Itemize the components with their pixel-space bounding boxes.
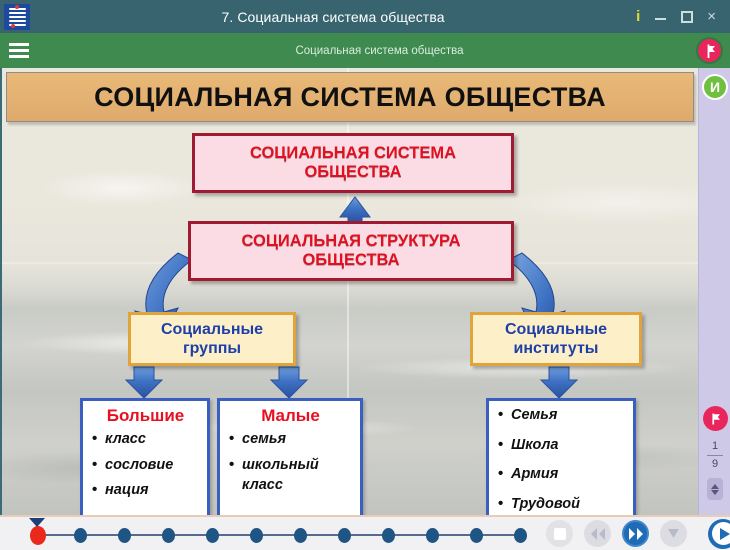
title-bar: 7. Социальная система общества i × [0, 0, 730, 33]
slide-canvas: СОЦИАЛЬНАЯ СИСТЕМА ОБЩЕСТВА [2, 68, 698, 515]
timeline-dot[interactable] [206, 528, 219, 543]
list-item: нация [92, 481, 199, 500]
timeline-dot[interactable] [30, 526, 46, 545]
list-item: Армия [498, 465, 625, 484]
flag-icon[interactable] [703, 406, 728, 431]
window-title: 7. Социальная система общества [30, 9, 636, 25]
lesson-title: Социальная система общества [29, 45, 730, 57]
box-social-structure-label: СОЦИАЛЬНАЯ СТРУКТУРА ОБЩЕСТВА [241, 232, 460, 271]
list-item: Школа [498, 436, 625, 455]
bookmark-flag-icon[interactable] [696, 37, 723, 64]
box-social-system-label: СОЦИАЛЬНАЯ СИСТЕМА ОБЩЕСТВА [250, 144, 456, 183]
timeline-dot[interactable] [426, 528, 439, 543]
list-institutions: Семья Школа Армия Трудовой [486, 398, 636, 515]
timeline-dot[interactable] [294, 528, 307, 543]
slide-banner: СОЦИАЛЬНАЯ СИСТЕМА ОБЩЕСТВА [6, 72, 694, 122]
timeline-dot[interactable] [514, 528, 527, 543]
close-icon[interactable]: × [707, 9, 716, 24]
right-rail: И 1 9 [698, 68, 730, 518]
notes-badge[interactable]: И [702, 74, 728, 100]
list-item: школьный [229, 456, 352, 475]
box-social-structure: СОЦИАЛЬНАЯ СТРУКТУРА ОБЩЕСТВА [188, 221, 514, 281]
book-spiral-icon [4, 4, 30, 30]
list-big-groups-title: Большие [92, 406, 199, 426]
list-small-groups-title: Малые [229, 406, 352, 426]
arrow-up-structure-to-system [340, 197, 370, 222]
list-item: сословие [92, 456, 199, 475]
maximize-icon[interactable] [681, 11, 693, 23]
list-small-groups-items: семья школьный класс [229, 430, 352, 495]
arrow-groups-to-big [126, 367, 162, 398]
forward-button[interactable] [622, 520, 649, 547]
page-indicator: 1 9 [699, 440, 730, 470]
list-small-groups: Малые семья школьный класс [217, 398, 363, 515]
timeline-dot[interactable] [338, 528, 351, 543]
box-social-system: СОЦИАЛЬНАЯ СИСТЕМА ОБЩЕСТВА [192, 133, 514, 193]
box-social-institutions-label: Социальные институты [505, 320, 607, 358]
page-total: 9 [699, 458, 730, 470]
stop-button[interactable] [546, 520, 573, 547]
list-item: Семья [498, 406, 625, 425]
page-current: 1 [699, 440, 730, 453]
timeline-dot[interactable] [250, 528, 263, 543]
application-window: 7. Социальная система общества i × Социа… [0, 0, 730, 550]
playback-toolbar [0, 515, 730, 550]
timeline-dot[interactable] [74, 528, 87, 543]
list-item: класс [92, 430, 199, 449]
list-item: семья [229, 430, 352, 449]
minimize-icon[interactable] [654, 10, 667, 23]
list-big-groups-items: класс сословие нация [92, 430, 199, 500]
window-controls: i × [636, 9, 716, 24]
slide-banner-text: СОЦИАЛЬНАЯ СИСТЕМА ОБЩЕСТВА [94, 82, 606, 113]
rewind-button[interactable] [584, 520, 611, 547]
resize-handle-icon[interactable] [707, 478, 723, 500]
arrow-institutions-to-list [541, 367, 577, 398]
playback-controls [546, 519, 730, 549]
list-big-groups: Большие класс сословие нация [80, 398, 210, 515]
arrow-groups-to-small [271, 367, 307, 398]
info-icon[interactable]: i [636, 9, 640, 24]
box-social-institutions: Социальные институты [470, 312, 642, 366]
list-item: класс [229, 476, 352, 495]
play-button[interactable] [708, 519, 730, 549]
timeline-dot[interactable] [382, 528, 395, 543]
timeline-dot[interactable] [118, 528, 131, 543]
hamburger-menu-icon[interactable] [9, 43, 29, 59]
timeline-track [30, 534, 522, 536]
timeline-dot[interactable] [470, 528, 483, 543]
download-button[interactable] [660, 520, 687, 547]
list-institutions-items: Семья Школа Армия Трудовой [498, 406, 625, 513]
slide-timeline[interactable] [22, 519, 532, 549]
box-social-groups: Социальные группы [128, 312, 296, 366]
box-social-groups-label: Социальные группы [161, 320, 263, 358]
list-item: Трудовой [498, 495, 625, 514]
lesson-sub-bar: Социальная система общества [0, 33, 730, 68]
timeline-dot[interactable] [162, 528, 175, 543]
timeline-marker [29, 518, 45, 527]
